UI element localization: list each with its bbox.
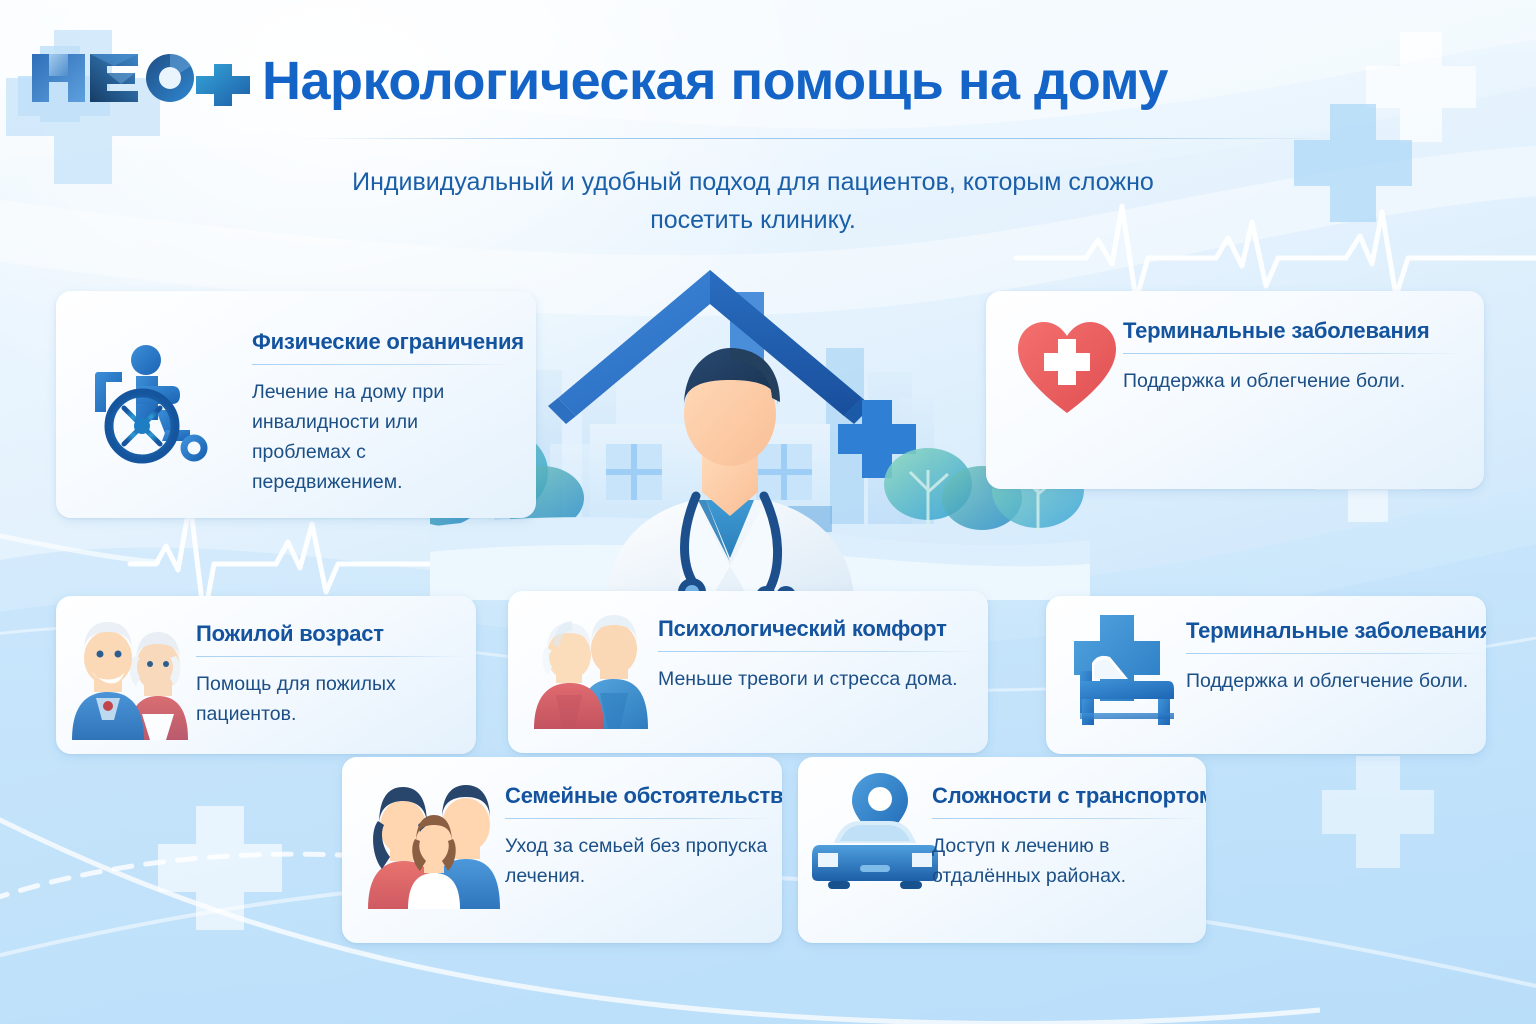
- elderly-couple-icon: [66, 610, 196, 740]
- heart-cross-icon: [1012, 313, 1122, 423]
- card-divider: [505, 818, 773, 819]
- family-icon: [364, 769, 504, 909]
- card-text: Доступ к лечению в отдалённых районах.: [932, 831, 1202, 891]
- card-terminal-illness-bed[interactable]: Терминальные заболевания Поддержка и обл…: [1046, 596, 1486, 754]
- card-title: Пожилой возраст: [196, 621, 466, 647]
- card-title: Сложности с транспортом: [932, 783, 1202, 809]
- card-text: Поддержка и облегчение боли.: [1186, 666, 1486, 696]
- page-subtitle: Индивидуальный и удобный подход для паци…: [318, 163, 1188, 239]
- card-title: Семейные обстоятельства: [505, 783, 773, 809]
- card-text: Помощь для пожилых пациентов.: [196, 669, 466, 729]
- card-psychological-comfort[interactable]: Психологический комфорт Меньше тревоги и…: [508, 591, 988, 753]
- card-title: Психологический комфорт: [658, 616, 978, 642]
- card-transport-difficulties[interactable]: Сложности с транспортом Доступ к лечению…: [798, 757, 1206, 943]
- page-title: Наркологическая помощь на дому: [262, 50, 1168, 112]
- card-title: Физические ограничения: [252, 329, 512, 355]
- card-terminal-illness-heart[interactable]: Терминальные заболевания Поддержка и обл…: [986, 291, 1484, 489]
- card-body: Семейные обстоятельства Уход за семьей б…: [505, 783, 773, 891]
- card-text: Меньше тревоги и стресса дома.: [658, 664, 978, 694]
- card-body: Пожилой возраст Помощь для пожилых пацие…: [196, 621, 466, 729]
- header-divider: [300, 138, 1340, 139]
- card-elderly-age[interactable]: Пожилой возраст Помощь для пожилых пацие…: [56, 596, 476, 754]
- card-body: Сложности с транспортом Доступ к лечению…: [932, 783, 1202, 891]
- card-divider: [932, 818, 1202, 819]
- card-divider: [1186, 653, 1486, 654]
- page-header: Наркологическая помощь на дому Индивидуа…: [0, 0, 1536, 150]
- card-body: Физические ограничения Лечение на дому п…: [252, 329, 512, 497]
- neo-plus-logo: [18, 44, 266, 122]
- card-physical-limitations[interactable]: Физические ограничения Лечение на дому п…: [56, 291, 536, 518]
- card-body: Психологический комфорт Меньше тревоги и…: [658, 616, 978, 694]
- car-location-pin-icon: [812, 769, 938, 895]
- two-people-icon: [530, 605, 654, 729]
- card-divider: [658, 651, 978, 652]
- card-body: Терминальные заболевания Поддержка и обл…: [1123, 318, 1463, 396]
- infographic-canvas: Наркологическая помощь на дому Индивидуа…: [0, 0, 1536, 1024]
- card-divider: [1123, 353, 1463, 354]
- card-family-circumstances[interactable]: Семейные обстоятельства Уход за семьей б…: [342, 757, 782, 943]
- card-title: Терминальные заболевания: [1186, 618, 1486, 644]
- card-title: Терминальные заболевания: [1123, 318, 1463, 344]
- wheelchair-icon: [90, 326, 230, 466]
- card-divider: [196, 656, 466, 657]
- card-text: Поддержка и облегчение боли.: [1123, 366, 1463, 396]
- card-text: Лечение на дому при инвалидности или про…: [252, 377, 512, 497]
- hospital-bed-cross-icon: [1064, 609, 1186, 731]
- card-text: Уход за семьей без пропуска лечения.: [505, 831, 773, 891]
- card-body: Терминальные заболевания Поддержка и обл…: [1186, 618, 1486, 696]
- card-divider: [252, 364, 512, 365]
